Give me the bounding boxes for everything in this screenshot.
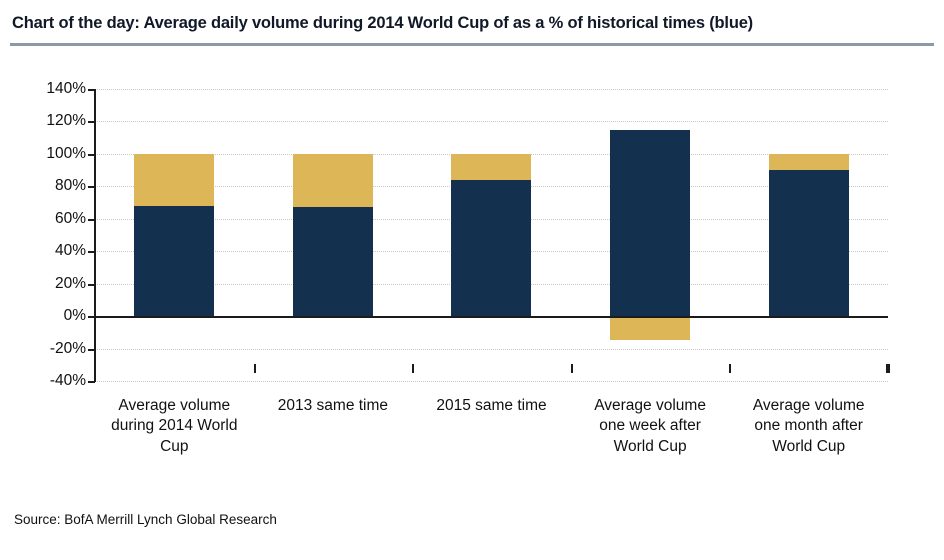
y-axis-tick-label: 140%	[14, 81, 86, 97]
bar-segment-blue[interactable]	[293, 207, 373, 316]
y-axis-tick-label: 100%	[14, 146, 86, 162]
zero-axis-line	[95, 316, 888, 318]
y-axis-tick-label: 40%	[14, 243, 86, 259]
y-axis-tick-label: 0%	[14, 308, 86, 324]
plot-area	[95, 89, 888, 381]
x-axis-category-label-line: World Cup	[729, 437, 888, 457]
x-axis-category-label: Average volumeone month afterWorld Cup	[729, 396, 888, 457]
x-axis-category-label-line: Cup	[95, 437, 254, 457]
x-axis-tick	[254, 364, 256, 373]
y-axis-tick-label: 60%	[14, 211, 86, 227]
y-axis-line	[94, 89, 96, 382]
bar-segment-gold[interactable]	[451, 154, 531, 180]
y-axis-tick	[88, 154, 95, 156]
bar-segment-blue[interactable]	[451, 180, 531, 316]
y-axis-tick	[88, 186, 95, 188]
bar-group[interactable]	[729, 89, 888, 381]
x-axis-category-label-line: 2013 same time	[254, 396, 413, 416]
y-axis-tick	[88, 349, 95, 351]
source-note: Source: BofA Merrill Lynch Global Resear…	[14, 512, 277, 527]
y-axis-tick	[88, 251, 95, 253]
x-axis-tick	[888, 364, 890, 373]
x-axis-category-label: Average volumeduring 2014 WorldCup	[95, 396, 254, 457]
x-axis-category-label-line: one week after	[571, 416, 730, 436]
gridline	[95, 381, 888, 382]
x-axis-category-label-line: during 2014 World	[95, 416, 254, 436]
y-axis-tick	[88, 381, 95, 383]
x-axis-tick	[571, 364, 573, 373]
bar-group[interactable]	[571, 89, 730, 381]
bar-group[interactable]	[95, 89, 254, 381]
bar-group[interactable]	[412, 89, 571, 381]
y-axis-tick-label: -20%	[14, 341, 86, 357]
bar-segment-gold[interactable]	[134, 154, 214, 206]
chart-header: Chart of the day: Average daily volume d…	[0, 0, 944, 46]
y-axis-tick	[88, 284, 95, 286]
chart-plot-wrapper: 140%120%100%80%60%40%20%0%-20%-40% Avera…	[0, 46, 944, 506]
x-axis-tick	[729, 364, 731, 373]
x-axis-category-label-line: Average volume	[729, 396, 888, 416]
y-axis-tick-label: -40%	[14, 373, 86, 389]
bar-segment-gold[interactable]	[293, 154, 373, 208]
x-axis-end-tick	[886, 364, 888, 373]
y-axis-tick	[88, 316, 95, 318]
x-axis-tick	[412, 364, 414, 373]
x-axis-category-label-line: Average volume	[571, 396, 730, 416]
x-axis-category-label-line: 2015 same time	[412, 396, 571, 416]
x-axis-category-labels: Average volumeduring 2014 WorldCup2013 s…	[95, 396, 888, 491]
y-axis-tick-label: 20%	[14, 276, 86, 292]
bar-segment-blue[interactable]	[134, 206, 214, 316]
y-axis-tick	[88, 121, 95, 123]
x-axis-category-label: Average volumeone week afterWorld Cup	[571, 396, 730, 457]
x-axis-category-label: 2015 same time	[412, 396, 571, 416]
y-axis-tick-label: 80%	[14, 178, 86, 194]
bar-segment-gold[interactable]	[769, 154, 849, 170]
bar-segment-blue[interactable]	[610, 130, 690, 317]
bar-group[interactable]	[254, 89, 413, 381]
x-axis-category-label-line: one month after	[729, 416, 888, 436]
y-axis-tick	[88, 219, 95, 221]
page-title: Chart of the day: Average daily volume d…	[12, 14, 753, 33]
x-axis-category-label-line: World Cup	[571, 437, 730, 457]
x-axis-category-label: 2013 same time	[254, 396, 413, 416]
y-axis-tick	[88, 89, 95, 91]
x-axis-category-label-line: Average volume	[95, 396, 254, 416]
bar-segment-gold[interactable]	[610, 316, 690, 340]
x-axis-ticks	[95, 364, 890, 376]
bar-segment-blue[interactable]	[769, 170, 849, 316]
y-axis-tick-label: 120%	[14, 113, 86, 129]
y-axis-labels: 140%120%100%80%60%40%20%0%-20%-40%	[8, 89, 86, 381]
